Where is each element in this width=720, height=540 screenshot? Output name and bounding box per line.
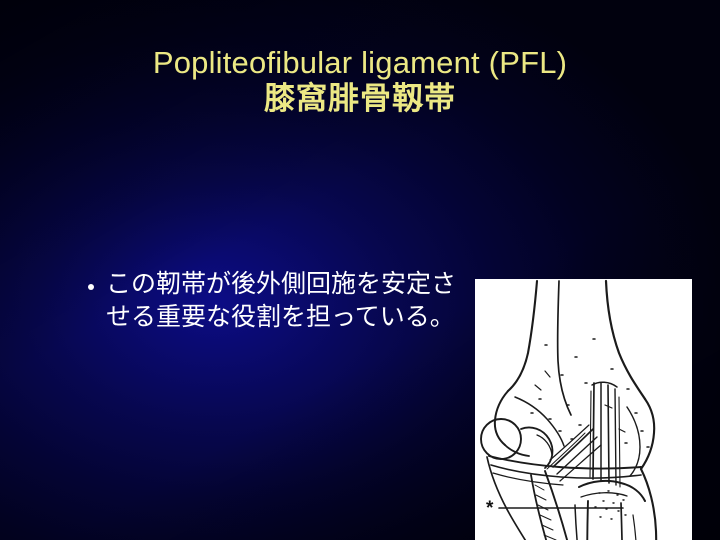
bullet-point-icon bbox=[88, 284, 94, 290]
knee-joint-drawing-svg: * bbox=[475, 279, 692, 540]
slide: Popliteofibular ligament (PFL) 膝窩腓骨靱帯 この… bbox=[0, 0, 720, 540]
bullet-item-text: この靭帯が後外側回施を安定させる重要な役割を担っている。 bbox=[106, 268, 458, 334]
pfl-asterisk-marker: * bbox=[486, 498, 494, 519]
body-bullet-list: この靭帯が後外側回施を安定させる重要な役割を担っている。 bbox=[84, 268, 480, 334]
title-line-english: Popliteofibular ligament (PFL) bbox=[0, 46, 720, 79]
slide-title: Popliteofibular ligament (PFL) 膝窩腓骨靱帯 bbox=[0, 46, 720, 116]
knee-anatomy-illustration: * bbox=[475, 279, 692, 540]
title-line-japanese: 膝窩腓骨靱帯 bbox=[0, 82, 720, 115]
